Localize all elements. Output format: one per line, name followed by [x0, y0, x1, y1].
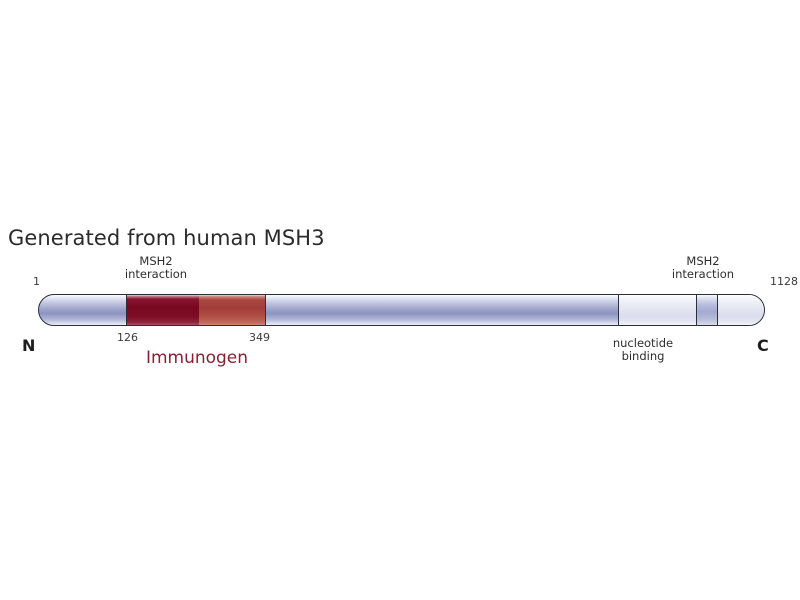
segment-divider-126: [126, 295, 127, 325]
segment-divider-msh2-cterm-end: [717, 295, 718, 325]
position-label-immunogen-start: 126: [117, 331, 138, 344]
annotation-msh2-interaction-left-line2: interaction: [101, 268, 211, 281]
domain-segment-cterm-tail: [717, 295, 765, 325]
position-label-end: 1128: [770, 275, 798, 288]
protein-backbone-bar: [38, 294, 765, 326]
domain-segment-immunogen-light: [199, 295, 265, 325]
n-terminus-label: N: [22, 336, 35, 355]
annotation-msh2-interaction-left: MSH2 interaction: [101, 255, 211, 281]
position-label-immunogen-end: 349: [249, 331, 270, 344]
domain-segment-msh2-interaction-cterm: [696, 295, 717, 325]
annotation-nucleotide-binding: nucleotide binding: [588, 337, 698, 363]
annotation-msh2-interaction-right-line2: interaction: [648, 268, 758, 281]
segment-divider-nucleotide-start: [618, 295, 619, 325]
segment-divider-349: [265, 295, 266, 325]
domain-segment-nucleotide-binding: [618, 295, 696, 325]
domain-segment-immunogen-dark: [126, 295, 199, 325]
protein-domain-diagram: Generated from human MSH3 MSH2 interacti…: [0, 0, 800, 600]
annotation-nucleotide-binding-line2: binding: [588, 350, 698, 363]
figure-title: Generated from human MSH3: [8, 226, 325, 250]
annotation-immunogen: Immunogen: [117, 348, 277, 368]
segment-divider-nucleotide-end: [696, 295, 697, 325]
c-terminus-label: C: [757, 336, 769, 355]
annotation-msh2-interaction-right: MSH2 interaction: [648, 255, 758, 281]
position-label-start: 1: [33, 275, 40, 288]
